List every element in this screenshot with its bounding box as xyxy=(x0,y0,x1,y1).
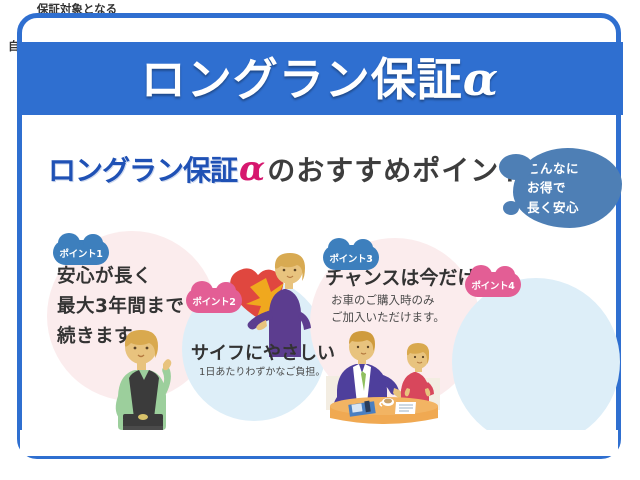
point-1-heading-line-2: 最大3年間まで xyxy=(57,292,184,322)
point-1-heading: 安心が長く 最大3年間まで 続きます xyxy=(57,262,184,352)
subtitle-brand: ロングラン保証 xyxy=(48,154,237,187)
poster-title: ロングラン保証α xyxy=(141,56,499,102)
subtitle-line: ロングラン保証αのおすすめポイント xyxy=(48,152,528,186)
bubble-line-3: 長く安心 xyxy=(527,198,622,217)
point-3-sub-line-1: お車のご購入時のみ xyxy=(331,292,445,309)
point-3-badge: ポイント3 xyxy=(323,245,379,270)
poster-title-alpha: α xyxy=(463,52,499,106)
couple-at-table-illustration xyxy=(318,330,450,430)
bottom-white-space xyxy=(20,430,618,456)
poster-title-main: ロングラン保証 xyxy=(141,53,463,106)
point-2-heading: サイフにやさしい xyxy=(191,342,335,365)
point-1-heading-line-3: 続きます xyxy=(57,322,184,352)
point-2-badge-label: ポイント2 xyxy=(192,294,235,308)
bubble-line-2: お得で xyxy=(527,178,622,197)
title-band: ロングラン保証α xyxy=(17,42,623,115)
subtitle-tail: のおすすめポイント xyxy=(267,154,528,187)
point-2-badge: ポイント2 xyxy=(186,288,242,313)
bubble-line-1: こんなに xyxy=(527,159,622,178)
point-4-circle xyxy=(452,278,620,446)
point-3-sub-line-2: ご加入いただけます。 xyxy=(331,309,445,326)
point-1-badge-label: ポイント1 xyxy=(59,246,102,260)
point-1-heading-line-1: 安心が長く xyxy=(57,262,184,292)
point-1-badge: ポイント1 xyxy=(53,240,109,265)
point-3-sub: お車のご購入時のみ ご加入いただけます。 xyxy=(331,292,445,327)
point-2-sub: 1日あたりわずかなご負担。 xyxy=(199,366,325,379)
point-3-badge-label: ポイント3 xyxy=(329,251,372,265)
point-4-badge: ポイント4 xyxy=(465,272,521,297)
point-4-badge-label: ポイント4 xyxy=(471,278,514,292)
poster-root: ロングラン保証α ロングラン保証αのおすすめポイント こんなに お得で 長く安心 xyxy=(0,0,640,480)
speech-bubble: こんなに お得で 長く安心 xyxy=(513,148,622,228)
subtitle-alpha: α xyxy=(237,149,267,189)
